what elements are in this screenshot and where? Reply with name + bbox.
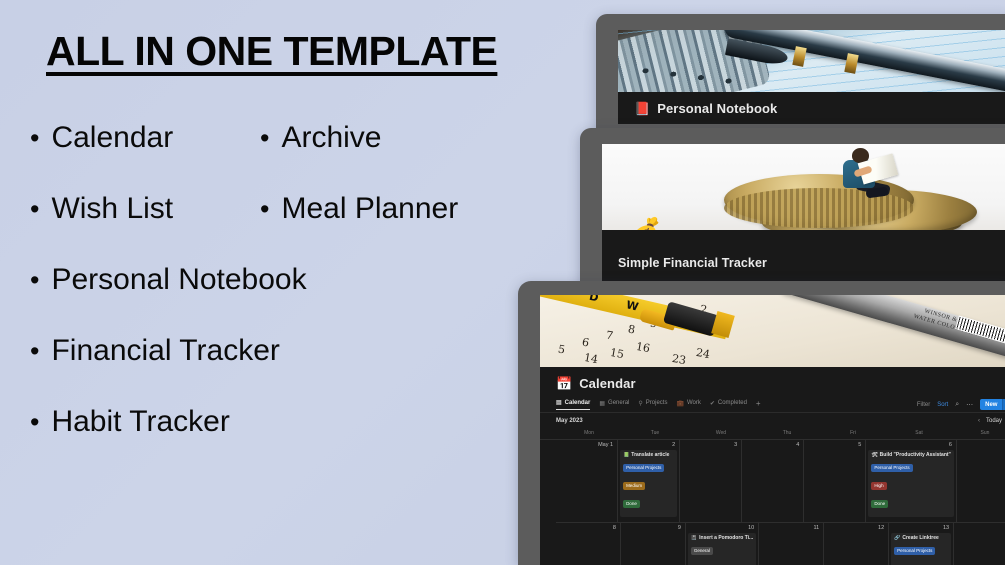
- event-tag-row: Done: [871, 496, 951, 514]
- list-item-label: Archive: [281, 121, 381, 155]
- weekday-label: Thu: [754, 428, 820, 439]
- tab-projects[interactable]: ⚲ Projects: [638, 400, 667, 410]
- event-emoji-icon: 📗: [623, 452, 629, 458]
- event-emoji-icon: 🛠: [871, 452, 877, 458]
- feature-row: • Financial Tracker: [30, 334, 560, 379]
- list-item-label: Wish List: [51, 192, 173, 226]
- calendar-day-cell[interactable]: 11: [759, 523, 824, 565]
- list-item-label: Habit Tracker: [51, 405, 229, 439]
- figurine-leg: [865, 187, 888, 199]
- calendar-day-number: 12: [826, 525, 886, 533]
- database-toolbar-calendar: ▤ Calendar ▦ General ⚲ Projects 💼 Work: [540, 397, 1005, 413]
- device-screen-calendar: M D W D 5 6 7 8 9 1 2 14 15 16 23 24: [540, 295, 1005, 565]
- weekday-label: Tue: [622, 428, 688, 439]
- device-mockup-calendar: M D W D 5 6 7 8 9 1 2 14 15 16 23 24: [518, 281, 1005, 565]
- current-month-label: May 2023: [556, 418, 978, 424]
- tab-label: Work: [687, 400, 701, 406]
- calendar-icon: ▤: [556, 399, 562, 406]
- weekday-label: Sat: [886, 428, 952, 439]
- calendar-day-number: 7: [959, 442, 1005, 450]
- feature-row: • Wish List • Meal Planner: [30, 192, 560, 237]
- book-icon: 📕: [634, 102, 650, 115]
- list-item: • Wish List: [30, 192, 260, 226]
- calendar-day-number: 10: [688, 525, 756, 533]
- cover-image-notebook: [618, 30, 1005, 92]
- calendar-day-number: 11: [761, 525, 821, 533]
- status-badge: Personal Projects: [894, 547, 935, 555]
- bullet-icon: •: [30, 196, 39, 223]
- toolbar-actions-calendar: Filter Sort ⌕ ⋯ New ▾: [917, 399, 1005, 410]
- view-tabs-calendar: ▤ Calendar ▦ General ⚲ Projects 💼 Work: [556, 399, 917, 410]
- new-button-label: New: [980, 399, 1002, 410]
- event-title-label: Translate article: [631, 452, 669, 458]
- sort-button[interactable]: Sort: [937, 402, 948, 408]
- event-tag-row: Medium: [623, 478, 674, 496]
- list-item: • Habit Tracker: [30, 405, 230, 439]
- calendar-nav: ‹ Today ›: [978, 418, 1005, 424]
- calendar-day-cell[interactable]: 14: [954, 523, 1005, 565]
- status-badge: High: [871, 482, 886, 490]
- feature-list: • Calendar • Archive • Wish List • Meal …: [30, 121, 560, 450]
- handwritten-number: 15: [609, 346, 625, 361]
- calendar-week-row: May 12📗Translate articlePersonal Project…: [556, 440, 1005, 523]
- table-icon: ▦: [599, 400, 605, 407]
- handwritten-number: 8: [627, 322, 636, 336]
- calendar-day-cell[interactable]: 5: [804, 440, 866, 522]
- calendar-weekday-header: Mon Tue Wed Thu Fri Sat Sun: [540, 428, 1005, 439]
- calendar-day-cell[interactable]: 7: [957, 440, 1005, 522]
- add-view-button[interactable]: +: [756, 399, 761, 410]
- slide-text-panel: ALL IN ONE TEMPLATE • Calendar • Archive…: [0, 0, 560, 565]
- bullet-icon: •: [30, 125, 39, 152]
- bullet-icon: •: [30, 409, 39, 436]
- tab-completed[interactable]: ✔ Completed: [710, 400, 747, 410]
- pin-icon: ⚲: [638, 400, 642, 407]
- calendar-day-cell[interactable]: 9: [621, 523, 686, 565]
- calendar-day-cell[interactable]: 12: [824, 523, 889, 565]
- bullet-icon: •: [30, 267, 39, 294]
- page-header-calendar: 📅 Calendar: [540, 367, 1005, 397]
- check-icon: ✔: [710, 400, 715, 407]
- tab-label: Projects: [646, 400, 668, 406]
- list-item: • Archive: [260, 121, 520, 155]
- calendar-day-cell[interactable]: 8: [556, 523, 621, 565]
- calendar-subbar: May 2023 ‹ Today ›: [540, 413, 1005, 428]
- tab-general[interactable]: ▦ General: [599, 400, 629, 410]
- page-title: ALL IN ONE TEMPLATE: [30, 28, 560, 75]
- prev-month-button[interactable]: ‹: [978, 418, 980, 424]
- page-title-calendar: Calendar: [579, 376, 635, 391]
- tab-label: Completed: [718, 400, 747, 406]
- cover-image-calendar: M D W D 5 6 7 8 9 1 2 14 15 16 23 24: [540, 295, 1005, 367]
- page-title-financial: Simple Financial Tracker: [618, 256, 767, 270]
- calendar-day-number: 8: [558, 525, 618, 533]
- status-badge: Personal Projects: [623, 464, 664, 472]
- event-tag-row: Personal Projects: [623, 460, 674, 478]
- calendar-day-number: 3: [682, 442, 739, 450]
- event-tag-row: Low: [691, 561, 753, 565]
- money-bag-icon: 💰: [630, 219, 664, 230]
- list-item-label: Personal Notebook: [51, 263, 306, 297]
- device-screen-financial: 💰 Simple Financial Tracker: [602, 144, 1005, 288]
- calendar-event-card[interactable]: 📗Translate articlePersonal ProjectsMediu…: [620, 450, 677, 517]
- list-item-label: Financial Tracker: [51, 334, 279, 368]
- calendar-week-row: 8910📓Insert a Pomodoro Ti...GeneralLowDo…: [556, 523, 1005, 565]
- handwritten-number: 16: [635, 340, 651, 355]
- event-tag-row: Personal Projects: [871, 460, 951, 478]
- event-tag-row: Personal Projects: [894, 543, 948, 561]
- search-icon[interactable]: ⌕: [955, 401, 959, 409]
- weekday-label: Wed: [688, 428, 754, 439]
- tab-label: Calendar: [565, 400, 591, 406]
- bullet-icon: •: [30, 338, 39, 365]
- page-title-notebook: Personal Notebook: [657, 101, 777, 116]
- list-item: • Calendar: [30, 121, 260, 155]
- calendar-event-card[interactable]: 🔗Create LinktreePersonal ProjectsMediumT…: [891, 533, 951, 565]
- event-tag-row: General: [691, 543, 753, 561]
- bullet-icon: •: [260, 125, 269, 152]
- event-emoji-icon: 📓: [691, 535, 697, 541]
- calendar-day-cell[interactable]: 2📗Translate articlePersonal ProjectsMedi…: [618, 440, 680, 522]
- calendar-day-number: 2: [620, 442, 677, 450]
- calendar-day-number: 5: [806, 442, 863, 450]
- calendar-event-card[interactable]: 📓Insert a Pomodoro Ti...GeneralLowDone: [688, 533, 756, 565]
- event-title-label: Build "Productivity Assistant": [880, 452, 951, 458]
- calendar-day-cell[interactable]: 4: [742, 440, 804, 522]
- calendar-day-number: May 1: [558, 442, 615, 450]
- weekday-label: Fri: [820, 428, 886, 439]
- device-screen-notebook: 📕 Personal Notebook ▤ Preview ☰ List 🗄: [618, 30, 1005, 124]
- page-header-financial: Simple Financial Tracker: [602, 230, 1005, 284]
- status-badge: General: [691, 547, 713, 555]
- ellipsis-icon[interactable]: ⋯: [966, 401, 973, 409]
- calendar-day-number: 13: [891, 525, 951, 533]
- status-badge: Personal Projects: [871, 464, 912, 472]
- page-header-notebook: 📕 Personal Notebook: [618, 92, 1005, 122]
- calendar-day-cell[interactable]: May 1: [556, 440, 618, 522]
- calendar-grid: May 12📗Translate articlePersonal Project…: [540, 439, 1005, 565]
- event-tag-row: High: [871, 478, 951, 496]
- notion-page-notebook: 📕 Personal Notebook ▤ Preview ☰ List 🗄: [618, 92, 1005, 124]
- cover-image-financial: 💰: [602, 144, 1005, 230]
- calendar-day-cell[interactable]: 3: [680, 440, 742, 522]
- feature-row: • Habit Tracker: [30, 405, 560, 450]
- event-title: 📓Insert a Pomodoro Ti...: [691, 535, 753, 541]
- handwritten-number: 6: [581, 335, 590, 349]
- list-item-label: Calendar: [51, 121, 173, 155]
- feature-row: • Personal Notebook: [30, 263, 560, 308]
- calendar-day-cell[interactable]: 6🛠Build "Productivity Assistant"Personal…: [866, 440, 957, 522]
- feature-row: • Calendar • Archive: [30, 121, 560, 166]
- weekday-label: Sun: [952, 428, 1005, 439]
- calendar-day-cell[interactable]: 10📓Insert a Pomodoro Ti...GeneralLowDone: [686, 523, 759, 565]
- status-badge: Medium: [623, 482, 645, 490]
- notion-page-financial: Simple Financial Tracker: [602, 230, 1005, 284]
- calendar-day-number: 14: [956, 525, 1005, 533]
- filter-button[interactable]: Filter: [917, 402, 930, 408]
- bullet-icon: •: [260, 196, 269, 223]
- notion-page-calendar: 📅 Calendar ▤ Calendar ▦ General ⚲ Projec: [540, 367, 1005, 565]
- calendar-day-number: 9: [623, 525, 683, 533]
- list-item: • Financial Tracker: [30, 334, 280, 368]
- figurine-reading: [830, 148, 900, 208]
- calendar-day-number: 4: [744, 442, 801, 450]
- device-mockup-notebook: 📕 Personal Notebook ▤ Preview ☰ List 🗄: [596, 14, 1005, 132]
- event-tag-row: Done: [623, 496, 674, 514]
- event-title: 📗Translate article: [623, 452, 674, 458]
- list-item: • Meal Planner: [260, 192, 520, 226]
- event-emoji-icon: 🔗: [894, 535, 900, 541]
- database-toolbar-notebook: ▤ Preview ☰ List 🗄 Archived Pages + Filt…: [618, 122, 1005, 124]
- device-mockup-financial: 💰 Simple Financial Tracker: [580, 128, 1005, 294]
- event-title-label: Create Linktree: [902, 535, 938, 541]
- handwritten-number: 7: [605, 328, 614, 342]
- handwritten-number: 14: [583, 351, 599, 366]
- list-item-label: Meal Planner: [281, 192, 458, 226]
- event-title-label: Insert a Pomodoro Ti...: [699, 535, 753, 541]
- calendar-event-card[interactable]: 🛠Build "Productivity Assistant"Personal …: [868, 450, 954, 517]
- today-button[interactable]: Today: [986, 418, 1002, 424]
- event-title: 🛠Build "Productivity Assistant": [871, 452, 951, 458]
- tab-label: General: [608, 400, 629, 406]
- calendar-day-number: 6: [868, 442, 954, 450]
- handwritten-number: 23: [671, 352, 687, 367]
- event-title: 🔗Create Linktree: [894, 535, 948, 541]
- calendar-day-cell[interactable]: 13🔗Create LinktreePersonal ProjectsMediu…: [889, 523, 954, 565]
- event-tag-row: Medium: [894, 561, 948, 565]
- handwritten-number: 24: [695, 346, 711, 361]
- briefcase-icon: 💼: [676, 400, 683, 407]
- status-badge: Done: [623, 500, 640, 508]
- list-item: • Personal Notebook: [30, 263, 307, 297]
- status-badge: Done: [871, 500, 888, 508]
- handwritten-number: 5: [557, 342, 566, 356]
- tab-work[interactable]: 💼 Work: [676, 400, 700, 410]
- new-button[interactable]: New ▾: [980, 399, 1005, 410]
- calendar-icon: 📅: [556, 377, 572, 390]
- tab-calendar[interactable]: ▤ Calendar: [556, 399, 590, 410]
- weekday-label: Mon: [556, 428, 622, 439]
